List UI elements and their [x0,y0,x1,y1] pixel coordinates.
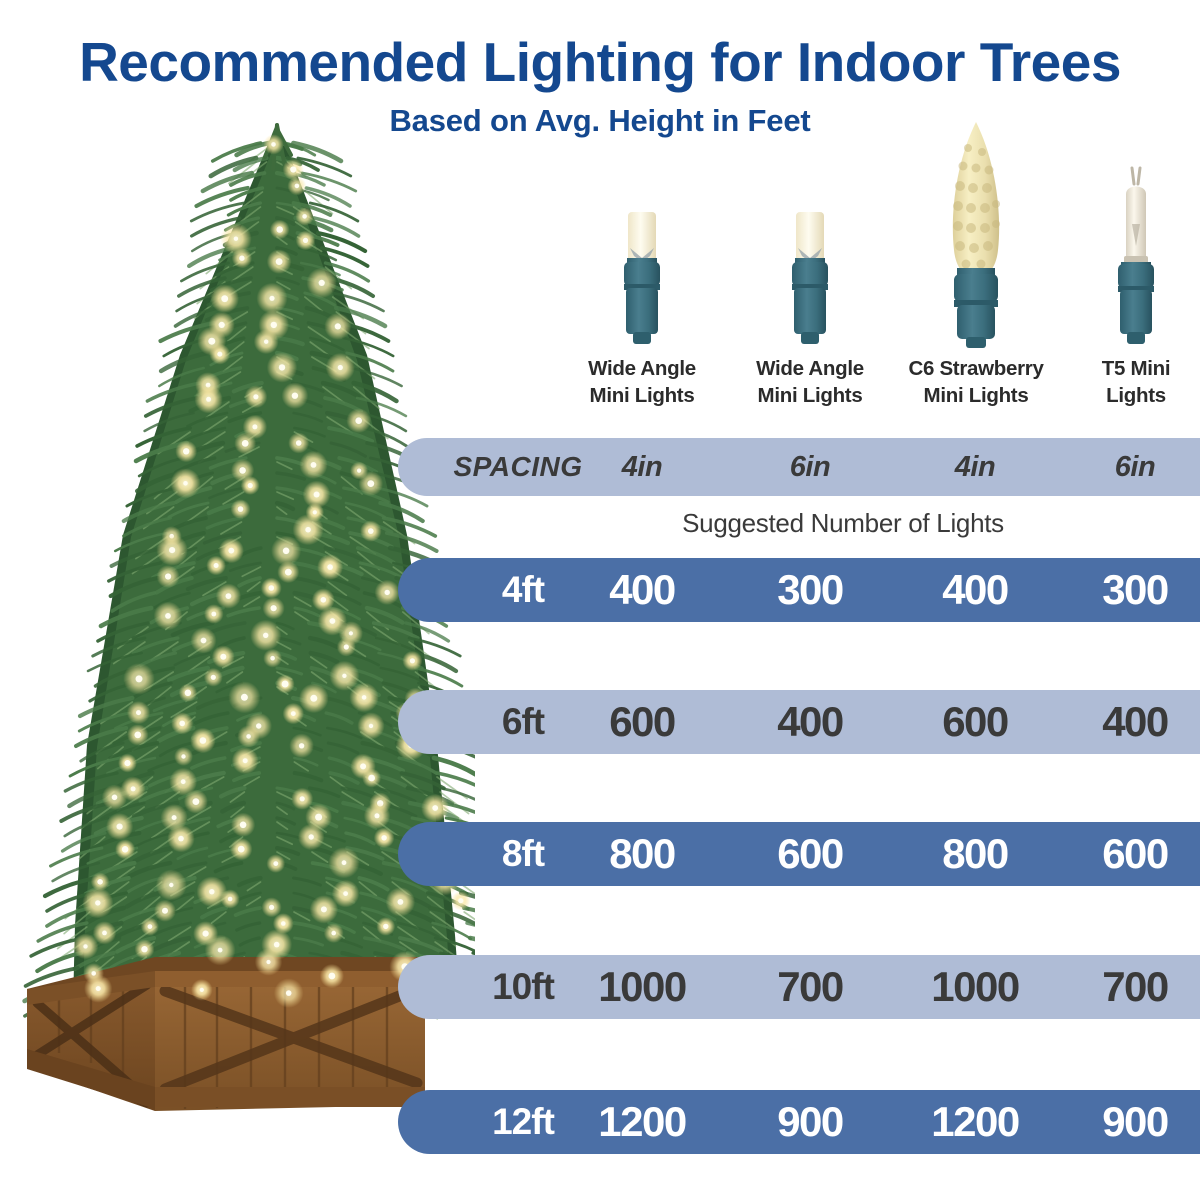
row-cell: 1200 [558,1098,726,1146]
column-header-1: Wide Angle Mini Lights [558,120,726,409]
row-cell: 1000 [558,963,726,1011]
t5-mini-light-bulb-icon [1052,120,1200,350]
infographic-canvas: Recommended Lighting for Indoor Trees Ba… [0,0,1200,1200]
table-row: 8ft 800 600 800 600 [398,822,1200,886]
column-label-1-line1: Wide Angle [558,356,726,383]
row-cell: 600 [726,830,894,878]
row-cell: 400 [726,698,894,746]
row-cell: 600 [1051,830,1200,878]
column-label-4-line2: Lights [1052,383,1200,410]
christmas-tree-illustration [0,105,475,1115]
row-cell: 300 [726,566,894,614]
row-cell: 400 [558,566,726,614]
row-cell: 900 [1051,1098,1200,1146]
table-row: 4ft 400 300 400 300 [398,558,1200,622]
spacing-value-2: 6in [726,451,894,484]
row-cell: 600 [558,698,726,746]
column-label-3: C6 Strawberry Mini Lights [892,356,1060,409]
column-label-4: T5 Mini Lights [1052,356,1200,409]
c6-strawberry-mini-light-bulb-icon [892,120,1060,350]
column-label-2-line1: Wide Angle [726,356,894,383]
spacing-row: SPACING 4in 6in 4in 6in [398,438,1200,496]
column-label-1: Wide Angle Mini Lights [558,356,726,409]
column-label-3-line2: Mini Lights [892,383,1060,410]
row-cell: 300 [1051,566,1200,614]
row-cell: 400 [1051,698,1200,746]
column-label-2-line2: Mini Lights [726,383,894,410]
row-cell: 700 [726,963,894,1011]
section-caption: Suggested Number of Lights [443,508,1200,539]
row-cell: 700 [1051,963,1200,1011]
page-title: Recommended Lighting for Indoor Trees [0,30,1200,94]
row-cell: 800 [891,830,1059,878]
row-cell: 1000 [891,963,1059,1011]
column-label-3-line1: C6 Strawberry [892,356,1060,383]
column-header-3: C6 Strawberry Mini Lights [892,120,1060,409]
row-cell: 400 [891,566,1059,614]
spacing-value-3: 4in [891,451,1059,484]
spacing-value-1: 4in [558,451,726,484]
table-row: 12ft 1200 900 1200 900 [398,1090,1200,1154]
table-row: 10ft 1000 700 1000 700 [398,955,1200,1019]
row-cell: 600 [891,698,1059,746]
row-cell: 800 [558,830,726,878]
column-header-4: T5 Mini Lights [1052,120,1200,409]
row-cell: 1200 [891,1098,1059,1146]
column-label-2: Wide Angle Mini Lights [726,356,894,409]
column-header-2: Wide Angle Mini Lights [726,120,894,409]
wide-angle-mini-light-bulb-icon [726,120,894,350]
table-row: 6ft 600 400 600 400 [398,690,1200,754]
spacing-value-4: 6in [1051,451,1200,484]
column-label-1-line2: Mini Lights [558,383,726,410]
column-label-4-line1: T5 Mini [1052,356,1200,383]
row-cell: 900 [726,1098,894,1146]
wide-angle-mini-light-bulb-icon [558,120,726,350]
